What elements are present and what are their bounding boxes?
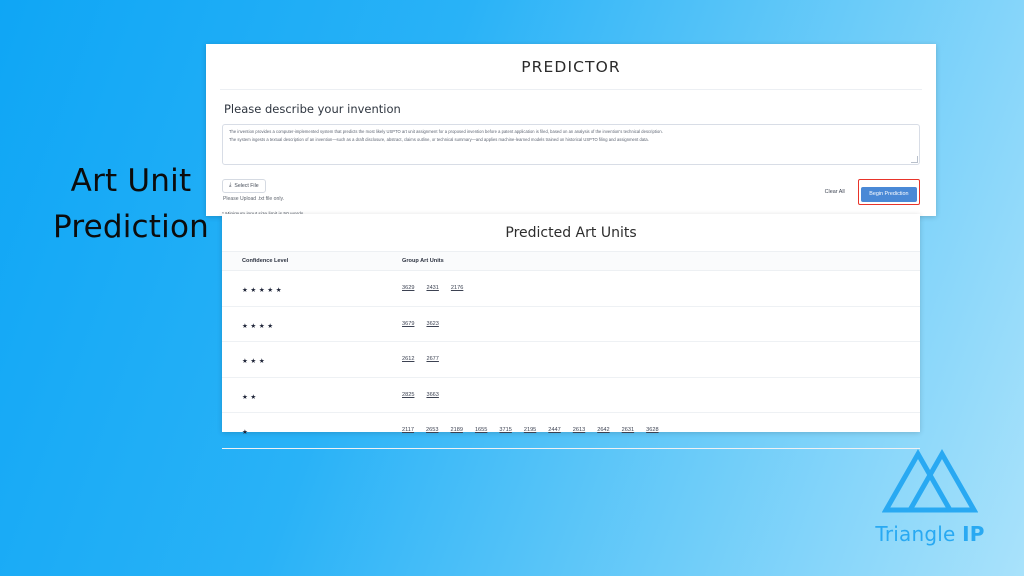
art-unit-list: 28253663	[402, 392, 920, 398]
textarea-resize-handle[interactable]	[911, 156, 918, 163]
page-title-line-1: Art Unit	[36, 158, 226, 204]
upload-icon: ⤓	[229, 183, 231, 188]
predictor-form: Please describe your invention The inven…	[220, 89, 922, 225]
table-row: ★★★26122677	[222, 342, 920, 378]
predictor-actions: Clear All Begin Prediction	[820, 179, 920, 206]
art-unit-link[interactable]: 2631	[622, 427, 634, 433]
confidence-stars: ★★★★	[242, 323, 276, 330]
art-unit-link[interactable]: 2431	[426, 285, 438, 291]
art-unit-link[interactable]: 2176	[451, 285, 463, 291]
select-file-label: Select File	[234, 183, 258, 189]
triangle-logo-icon	[882, 448, 978, 520]
predictor-card: PREDICTOR Please describe your invention…	[206, 44, 936, 216]
confidence-level-cell: ★★★★★	[222, 271, 402, 307]
art-unit-link[interactable]: 2117	[402, 427, 414, 433]
art-unit-link[interactable]: 2195	[524, 427, 536, 433]
table-header-row: Confidence Level Group Art Units	[222, 252, 920, 271]
invention-text-line-1: The invention provides a computer-implem…	[229, 129, 913, 135]
begin-prediction-button[interactable]: Begin Prediction	[861, 187, 916, 202]
invention-description-input[interactable]: The invention provides a computer-implem…	[222, 124, 920, 165]
page-title: Art Unit Prediction	[36, 158, 226, 250]
table-row: ★★★★36793623	[222, 306, 920, 342]
art-unit-link[interactable]: 2447	[548, 427, 560, 433]
confidence-level-cell: ★	[222, 413, 402, 449]
begin-prediction-highlight: Begin Prediction	[858, 179, 920, 206]
table-row: ★★★★★362924312176	[222, 271, 920, 307]
upload-note: Please Upload .txt file only.	[223, 196, 920, 202]
confidence-stars: ★★★	[242, 358, 267, 365]
art-unit-link[interactable]: 3628	[646, 427, 658, 433]
art-unit-link[interactable]: 2653	[426, 427, 438, 433]
confidence-level-cell: ★★	[222, 377, 402, 413]
group-art-units-cell: 362924312176	[402, 271, 920, 307]
logo-wordmark: Triangle IP	[860, 522, 1000, 546]
column-header-group-art-units: Group Art Units	[402, 252, 920, 271]
predictor-card-title: PREDICTOR	[206, 44, 936, 89]
art-unit-link[interactable]: 3679	[402, 321, 414, 327]
triangle-ip-logo: Triangle IP	[860, 448, 1000, 546]
table-body: ★★★★★362924312176★★★★36793623★★★26122677…	[222, 271, 920, 449]
art-unit-list: 26122677	[402, 356, 920, 362]
art-unit-link[interactable]: 2677	[426, 356, 438, 362]
invention-text-line-2: The system ingests a textual description…	[229, 137, 913, 143]
file-upload-row: ⤓ Select File Please Upload .txt file on…	[222, 173, 920, 202]
art-unit-link[interactable]: 2825	[402, 392, 414, 398]
art-unit-list: 2117265321891655371521952447261326422631…	[402, 427, 920, 433]
table-row: ★★28253663	[222, 377, 920, 413]
art-unit-list: 362924312176	[402, 285, 920, 291]
confidence-level-cell: ★★★	[222, 342, 402, 378]
group-art-units-cell: 26122677	[402, 342, 920, 378]
predicted-art-units-table: Confidence Level Group Art Units ★★★★★36…	[222, 251, 920, 449]
art-unit-link[interactable]: 3663	[426, 392, 438, 398]
art-unit-link[interactable]: 2189	[450, 427, 462, 433]
confidence-level-cell: ★★★★	[222, 306, 402, 342]
art-unit-link[interactable]: 1655	[475, 427, 487, 433]
art-unit-link[interactable]: 2613	[573, 427, 585, 433]
group-art-units-cell: 28253663	[402, 377, 920, 413]
art-unit-list: 36793623	[402, 321, 920, 327]
page-title-line-2: Prediction	[36, 204, 226, 250]
logo-word-ip: IP	[962, 522, 985, 546]
predicted-art-units-card: Predicted Art Units Confidence Level Gro…	[222, 214, 920, 432]
results-title: Predicted Art Units	[222, 214, 920, 251]
group-art-units-cell: 2117265321891655371521952447261326422631…	[402, 413, 920, 449]
art-unit-link[interactable]: 2612	[402, 356, 414, 362]
art-unit-link[interactable]: 3629	[402, 285, 414, 291]
confidence-stars: ★★★★★	[242, 287, 284, 294]
art-unit-link[interactable]: 3623	[426, 321, 438, 327]
confidence-stars: ★	[242, 429, 250, 436]
clear-all-button[interactable]: Clear All	[820, 185, 850, 199]
select-file-button[interactable]: ⤓ Select File	[222, 179, 266, 193]
art-unit-link[interactable]: 3715	[499, 427, 511, 433]
logo-word-triangle: Triangle	[875, 522, 962, 546]
invention-description-label: Please describe your invention	[224, 102, 920, 116]
column-header-confidence: Confidence Level	[222, 252, 402, 271]
art-unit-link[interactable]: 2642	[597, 427, 609, 433]
group-art-units-cell: 36793623	[402, 306, 920, 342]
confidence-stars: ★★	[242, 394, 259, 401]
table-row: ★211726532189165537152195244726132642263…	[222, 413, 920, 449]
